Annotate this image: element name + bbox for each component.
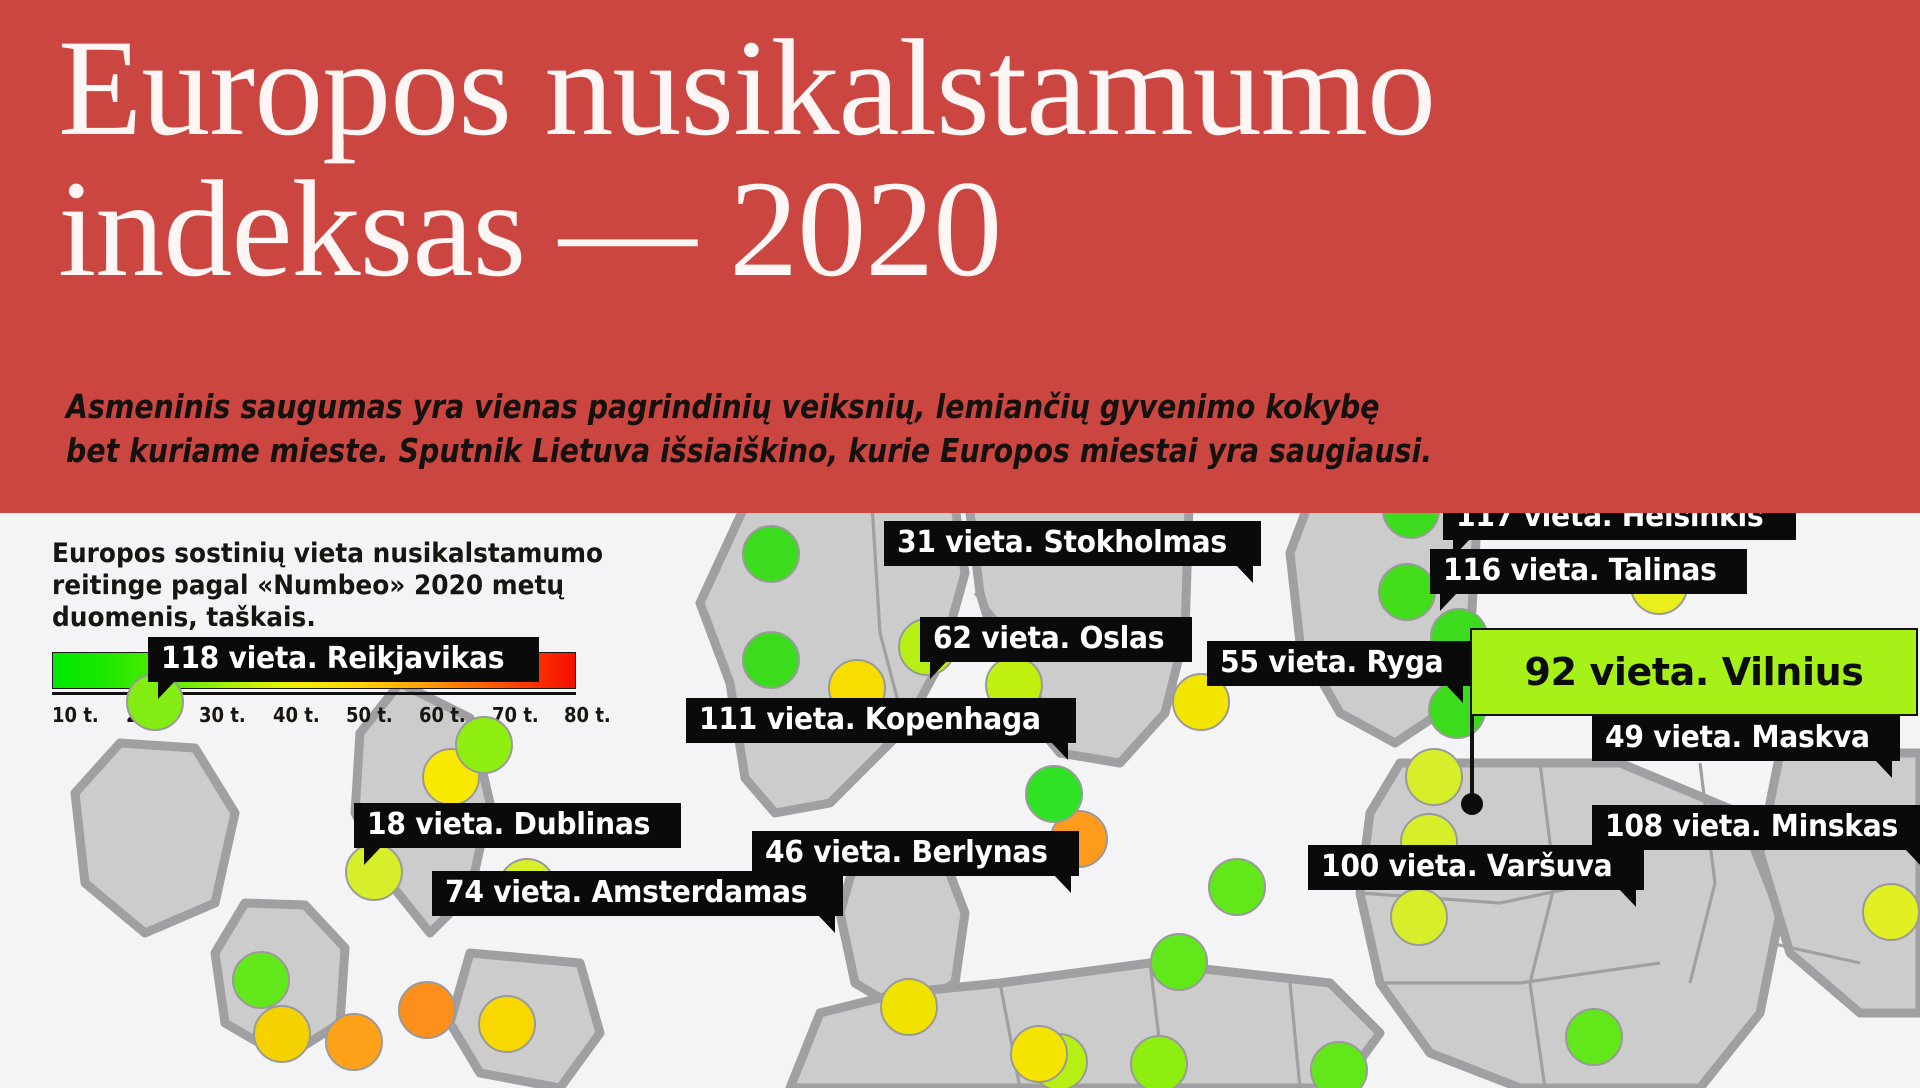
legend-tick-60: 60 t. (419, 703, 466, 727)
city-dot[interactable] (398, 981, 456, 1039)
map-label-amsterdamas[interactable]: 74 vieta. Amsterdamas (432, 871, 843, 916)
city-dot-dublinas[interactable] (325, 1013, 383, 1071)
map-label-stokholmas[interactable]: 31 vieta. Stokholmas (884, 521, 1261, 566)
map-label-minskas[interactable]: 108 vieta. Minskas (1592, 805, 1920, 850)
page-title: Europos nusikalstamumo indeksas — 2020 (58, 18, 1888, 300)
header-banner: Europos nusikalstamumo indeksas — 2020 A… (0, 0, 1920, 513)
city-dot[interactable] (232, 951, 290, 1009)
city-dot[interactable] (880, 978, 938, 1036)
map-label-varsuva[interactable]: 100 vieta. Varšuva (1308, 845, 1644, 890)
map-label-talinas[interactable]: 116 vieta. Talinas (1430, 549, 1747, 594)
map-label-kopenhaga[interactable]: 111 vieta. Kopenhaga (686, 698, 1076, 743)
city-dot-maskva[interactable] (1862, 883, 1920, 941)
legend-tick-50: 50 t. (346, 703, 393, 727)
city-dot[interactable] (455, 716, 513, 774)
map-label-reikjavikas[interactable]: 118 vieta. Reikjavikas (148, 637, 539, 682)
page-subtitle: Asmeninis saugumas yra vienas pagrindini… (66, 385, 1528, 472)
map-label-helsinkis[interactable]: 117 vieta. Helsinkis (1443, 513, 1796, 540)
legend-title: Europos sostinių vieta nusikalstamumo re… (52, 538, 641, 634)
map-label-ryga[interactable]: 55 vieta. Ryga (1207, 641, 1471, 686)
city-dot[interactable] (1208, 858, 1266, 916)
city-dot[interactable] (1390, 888, 1448, 946)
vilnius-map-pin[interactable] (1461, 793, 1483, 815)
city-dot-minskas[interactable] (1565, 1008, 1623, 1066)
map-canvas: Europos sostinių vieta nusikalstamumo re… (0, 513, 1920, 1088)
infographic-root: Europos nusikalstamumo indeksas — 2020 A… (0, 0, 1920, 1088)
city-dot[interactable] (1150, 933, 1208, 991)
city-dot[interactable] (1378, 563, 1436, 621)
map-label-oslas[interactable]: 62 vieta. Oslas (920, 617, 1192, 662)
vilnius-leader-line (1470, 716, 1474, 802)
map-label-maskva[interactable]: 49 vieta. Maskva (1592, 716, 1900, 761)
map-label-berlynas[interactable]: 46 vieta. Berlynas (752, 831, 1079, 876)
legend-tick-80: 80 t. (564, 703, 611, 727)
map-label-vilnius-highlight[interactable]: 92 vieta. Vilnius (1470, 628, 1918, 716)
city-dot[interactable] (253, 1005, 311, 1063)
city-dot[interactable] (742, 631, 800, 689)
legend-tick-40: 40 t. (273, 703, 320, 727)
city-dot[interactable] (478, 995, 536, 1053)
city-dot-berlynas[interactable] (1010, 1025, 1068, 1083)
legend-tick-10: 10 t. (52, 703, 99, 727)
city-dot[interactable] (742, 525, 800, 583)
vilnius-label-text: 92 vieta. Vilnius (1525, 650, 1864, 694)
city-dot[interactable] (1405, 748, 1463, 806)
city-dot-kopenhaga[interactable] (1025, 765, 1083, 823)
map-label-dublinas[interactable]: 18 vieta. Dublinas (354, 803, 681, 848)
legend-tick-30: 30 t. (199, 703, 246, 727)
city-dot-amsterdamas[interactable] (1130, 1035, 1188, 1088)
